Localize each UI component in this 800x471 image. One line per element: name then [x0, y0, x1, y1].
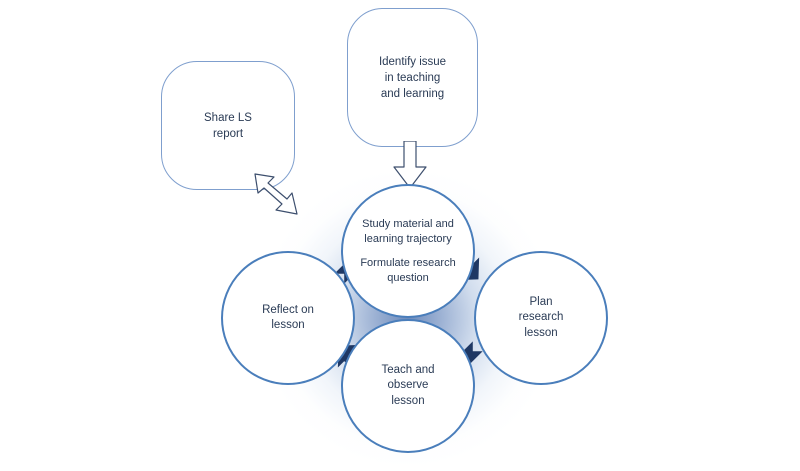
node-study-line-2: learning trajectory: [364, 233, 451, 245]
box-identify-line-3: and learning: [381, 88, 444, 100]
box-identify-line-2: in teaching: [385, 72, 441, 84]
node-teach-line-1: Teach and: [381, 364, 434, 376]
box-share-line-1: Share LS: [204, 112, 252, 124]
node-plan-research-lesson[interactable]: Plan research lesson: [474, 251, 608, 385]
node-study-material[interactable]: Study material and learning trajectory F…: [341, 184, 475, 318]
node-teach-observe-lesson[interactable]: Teach and observe lesson: [341, 319, 475, 453]
node-teach-line-2: observe: [388, 379, 429, 391]
box-identify-issue[interactable]: Identify issue in teaching and learning: [347, 8, 478, 147]
node-plan-text: Plan research lesson: [515, 295, 568, 342]
box-share-line-2: report: [213, 128, 243, 140]
node-reflect-line-2: lesson: [271, 319, 304, 331]
box-share-ls-report[interactable]: Share LS report: [161, 61, 295, 190]
node-reflect-line-1: Reflect on: [262, 304, 314, 316]
node-plan-line-1: Plan: [529, 296, 552, 308]
node-plan-line-3: lesson: [524, 327, 557, 339]
node-plan-line-2: research: [519, 311, 564, 323]
diagram-canvas: Identify issue in teaching and learning …: [0, 0, 800, 471]
box-identify-line-1: Identify issue: [379, 56, 446, 68]
node-study-line-1: Study material and: [362, 218, 454, 230]
node-reflect-text: Reflect on lesson: [258, 303, 318, 334]
node-study-line-4: question: [387, 272, 429, 284]
node-teach-line-3: lesson: [391, 395, 424, 407]
box-identify-issue-text: Identify issue in teaching and learning: [379, 54, 446, 102]
node-reflect-on-lesson[interactable]: Reflect on lesson: [221, 251, 355, 385]
box-share-ls-report-text: Share LS report: [204, 110, 252, 142]
node-study-primary: Study material and learning trajectory: [358, 217, 458, 247]
arrow-identify-to-study-icon: [391, 141, 429, 189]
node-study-line-3: Formulate research: [360, 257, 455, 269]
arrow-reflect-to-share-icon: [253, 172, 299, 218]
node-teach-text: Teach and observe lesson: [377, 363, 438, 410]
node-study-secondary: Formulate research question: [356, 256, 459, 286]
